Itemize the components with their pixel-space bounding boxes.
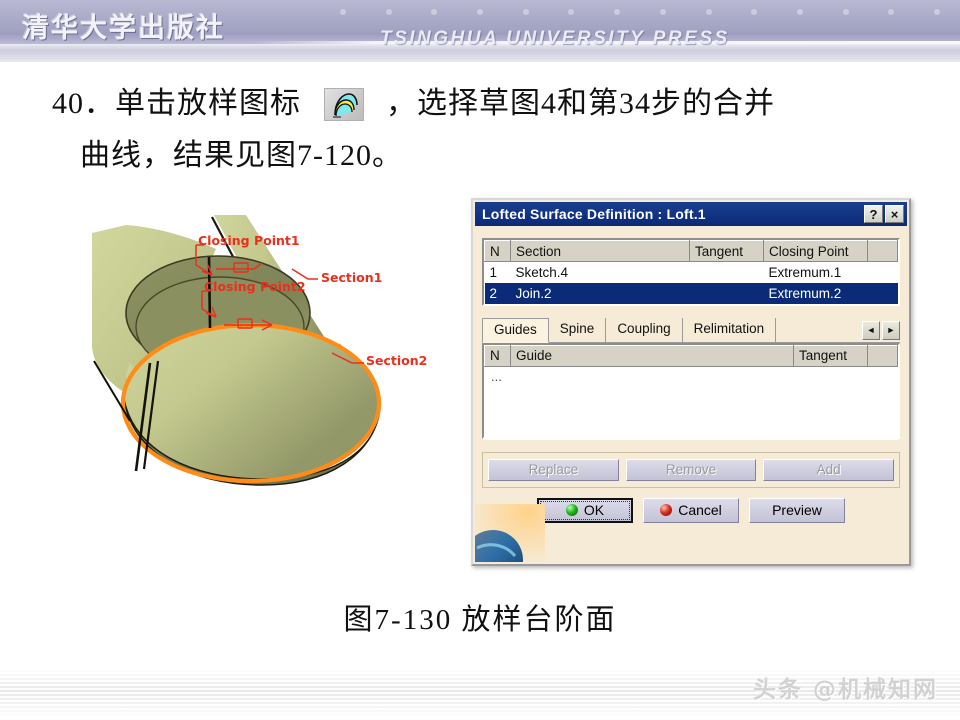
- lofted-surface-definition-dialog[interactable]: Lofted Surface Definition : Loft.1 ? × N…: [471, 198, 911, 566]
- ok-button[interactable]: OK: [537, 498, 633, 523]
- header-dot-pattern: [340, 6, 940, 18]
- section-col-section: Section: [511, 241, 690, 262]
- dialog-titlebar-buttons: ? ×: [864, 205, 907, 223]
- tab-relimitation[interactable]: Relimitation: [683, 318, 777, 342]
- publisher-logo-cn: 清华大学出版社: [22, 6, 225, 45]
- step-text-after-icon: ，选择草图4和第34步的合并: [386, 87, 775, 120]
- guide-col-n: N: [485, 345, 511, 366]
- step-number-text: 40．单击放样图标: [52, 87, 301, 120]
- ok-button-label: OK: [584, 502, 604, 518]
- section-table: N Section Tangent Closing Point 1 Sketch…: [484, 240, 898, 304]
- step-line-1: 40．单击放样图标 ，选择草图4和第34步的合并: [52, 78, 932, 130]
- row-section: Sketch.4: [511, 262, 690, 283]
- loft-icon: [324, 88, 364, 121]
- cad-figure: Closing Point1 Section1 Closing Point2 S…: [86, 213, 412, 523]
- row-n: 1: [485, 262, 511, 283]
- preview-button[interactable]: Preview: [749, 498, 845, 523]
- tab-scroll-buttons[interactable]: ◄ ►: [862, 321, 900, 342]
- help-icon[interactable]: ?: [864, 205, 883, 223]
- section-col-tangent: Tangent: [690, 241, 764, 262]
- guide-table-header-row: N Guide Tangent: [485, 345, 898, 366]
- red-led-icon: [660, 504, 672, 516]
- row-closing-point: Extremum.1: [764, 262, 868, 283]
- publisher-logo-en: TSINGHUA UNIVERSITY PRESS: [380, 28, 730, 50]
- figure-caption: 图7-130 放样台阶面: [0, 596, 960, 638]
- label-section-2: Section2: [366, 353, 427, 368]
- replace-button[interactable]: Replace: [488, 459, 619, 481]
- table-row[interactable]: 2 Join.2 Extremum.2: [485, 283, 898, 304]
- dialog-title: Lofted Surface Definition : Loft.1: [475, 206, 864, 222]
- label-closing-point-2: Closing Point2: [204, 279, 306, 294]
- step-paragraph: 40．单击放样图标 ，选择草图4和第34步的合并 曲线，结果见图7-120。: [52, 78, 932, 182]
- guide-action-buttons: Replace Remove Add: [482, 452, 900, 488]
- guide-col-tangent: Tangent: [794, 345, 868, 366]
- row-pad: [868, 283, 898, 304]
- section-col-closing-point: Closing Point: [764, 241, 868, 262]
- section-table-container[interactable]: N Section Tangent Closing Point 1 Sketch…: [482, 238, 900, 306]
- guide-table: N Guide Tangent: [484, 345, 898, 367]
- preview-button-label: Preview: [772, 502, 822, 518]
- row-n: 2: [485, 283, 511, 304]
- guide-col-pad: [868, 345, 898, 366]
- label-section-1: Section1: [321, 270, 382, 285]
- dialog-footer-buttons: OK Cancel Preview: [482, 498, 900, 523]
- guide-table-container[interactable]: N Guide Tangent ...: [482, 343, 900, 439]
- section-col-pad: [868, 241, 898, 262]
- watermark: 头条 @机械知网: [753, 670, 938, 704]
- tab-guides[interactable]: Guides: [482, 318, 549, 343]
- dialog-tabs[interactable]: Guides Spine Coupling Relimitation ◄ ►: [482, 317, 900, 343]
- page-header: 清华大学出版社 TSINGHUA UNIVERSITY PRESS: [0, 0, 960, 62]
- cancel-button-label: Cancel: [678, 502, 722, 518]
- add-button[interactable]: Add: [763, 459, 894, 481]
- step-line-2: 曲线，结果见图7-120。: [52, 130, 932, 182]
- tab-spine[interactable]: Spine: [549, 318, 607, 342]
- table-row[interactable]: 1 Sketch.4 Extremum.1: [485, 262, 898, 283]
- section-col-n: N: [485, 241, 511, 262]
- dialog-titlebar[interactable]: Lofted Surface Definition : Loft.1 ? ×: [475, 202, 907, 226]
- row-tangent: [690, 262, 764, 283]
- chevron-left-icon[interactable]: ◄: [862, 321, 880, 340]
- guide-table-body[interactable]: ...: [484, 367, 898, 440]
- close-icon[interactable]: ×: [885, 205, 904, 223]
- section-table-header-row: N Section Tangent Closing Point: [485, 241, 898, 262]
- guide-col-guide: Guide: [511, 345, 794, 366]
- label-closing-point-1: Closing Point1: [198, 233, 300, 248]
- cad-figure-svg: [86, 213, 412, 523]
- row-section: Join.2: [511, 283, 690, 304]
- cancel-button[interactable]: Cancel: [643, 498, 739, 523]
- remove-button[interactable]: Remove: [626, 459, 757, 481]
- green-led-icon: [566, 504, 578, 516]
- chevron-right-icon[interactable]: ►: [882, 321, 900, 340]
- tab-coupling[interactable]: Coupling: [606, 318, 682, 342]
- row-pad: [868, 262, 898, 283]
- row-tangent: [690, 283, 764, 304]
- row-closing-point: Extremum.2: [764, 283, 868, 304]
